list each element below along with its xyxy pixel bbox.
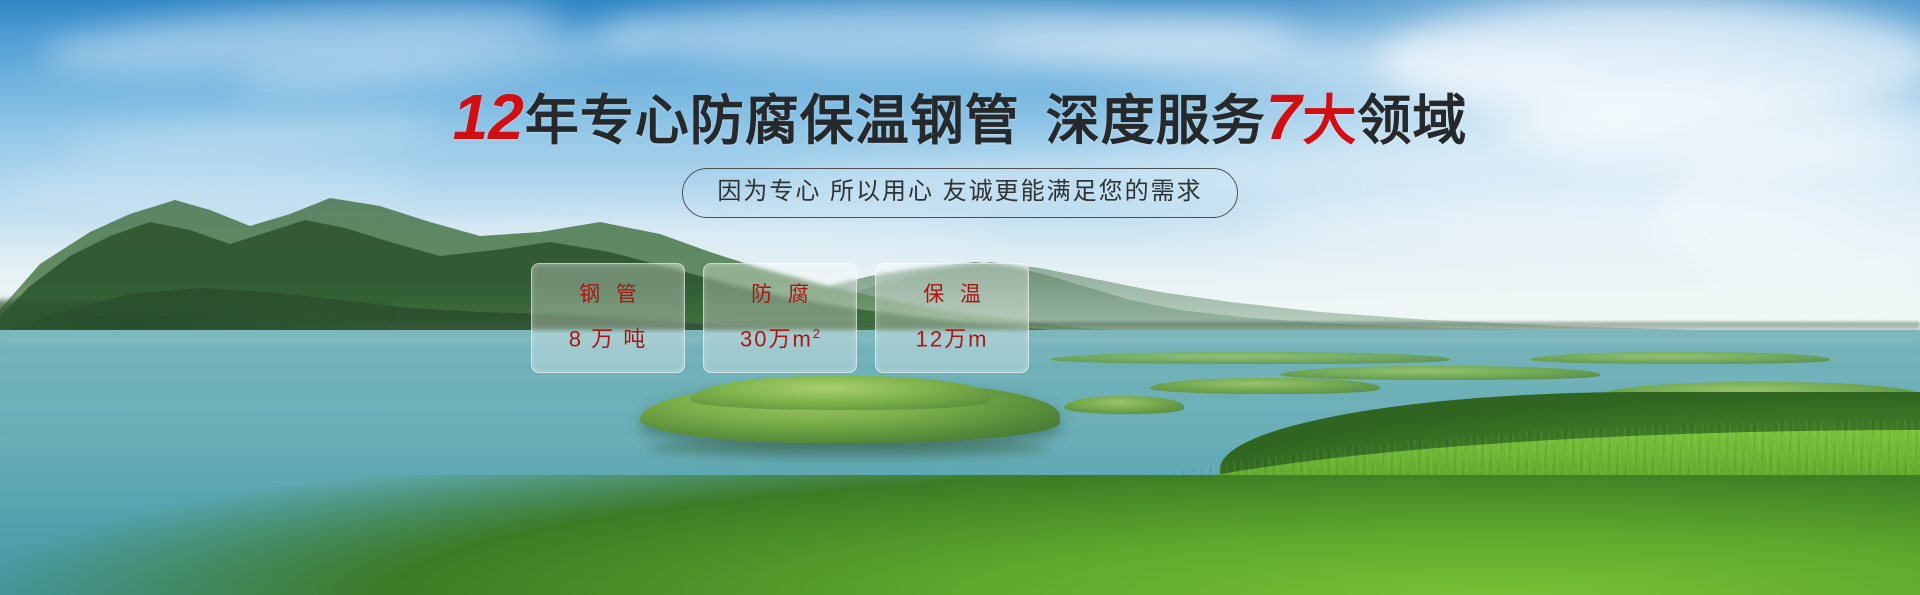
- distant-marsh: [1530, 352, 1830, 364]
- stat-card-steel-pipe[interactable]: 钢 管 8 万 吨: [531, 263, 685, 373]
- headline-part-one: 年专心防腐保温钢管: [525, 91, 1020, 151]
- stat-card-title: 防 腐: [746, 283, 814, 307]
- stat-card-insulation[interactable]: 保 温 12万m: [875, 263, 1029, 373]
- subtitle-container: 因为专心 所以用心 友诚更能满足您的需求: [0, 168, 1920, 218]
- grass-island-top: [690, 376, 990, 410]
- stat-card-value: 8 万 吨: [569, 321, 647, 352]
- stat-card-value-text: 8 万 吨: [569, 327, 647, 352]
- distant-marsh: [1150, 378, 1380, 394]
- hero-banner: 12年专心防腐保温钢管深度服务7大领域 因为专心 所以用心 友诚更能满足您的需求…: [0, 0, 1920, 595]
- subtitle-pill: 因为专心 所以用心 友诚更能满足您的需求: [682, 168, 1237, 218]
- stat-card-value: 12万m: [916, 321, 989, 352]
- headline-fields-number: 7: [1266, 81, 1302, 153]
- headline-red-char: 大: [1302, 91, 1357, 151]
- headline: 12年专心防腐保温钢管深度服务7大领域: [0, 86, 1920, 152]
- distant-marsh: [1050, 352, 1450, 364]
- headline-part-two: 深度服务: [1046, 91, 1266, 151]
- stat-card-value-text: 12万m: [916, 327, 989, 352]
- stat-card-value-sup: 2: [813, 326, 820, 341]
- headline-years-number: 12: [453, 81, 524, 153]
- stat-cards: 钢 管 8 万 吨 防 腐 30万m2 保 温 12万m: [531, 263, 1029, 373]
- stat-card-title: 保 温: [918, 283, 986, 307]
- stat-card-value-text: 30万m: [740, 327, 813, 352]
- stat-card-title: 钢 管: [574, 283, 642, 307]
- distant-marsh: [1280, 366, 1600, 380]
- headline-part-three: 领域: [1357, 91, 1467, 151]
- stat-card-value: 30万m2: [740, 321, 820, 352]
- stat-card-anticorrosion[interactable]: 防 腐 30万m2: [703, 263, 857, 373]
- distant-marsh: [1064, 396, 1184, 414]
